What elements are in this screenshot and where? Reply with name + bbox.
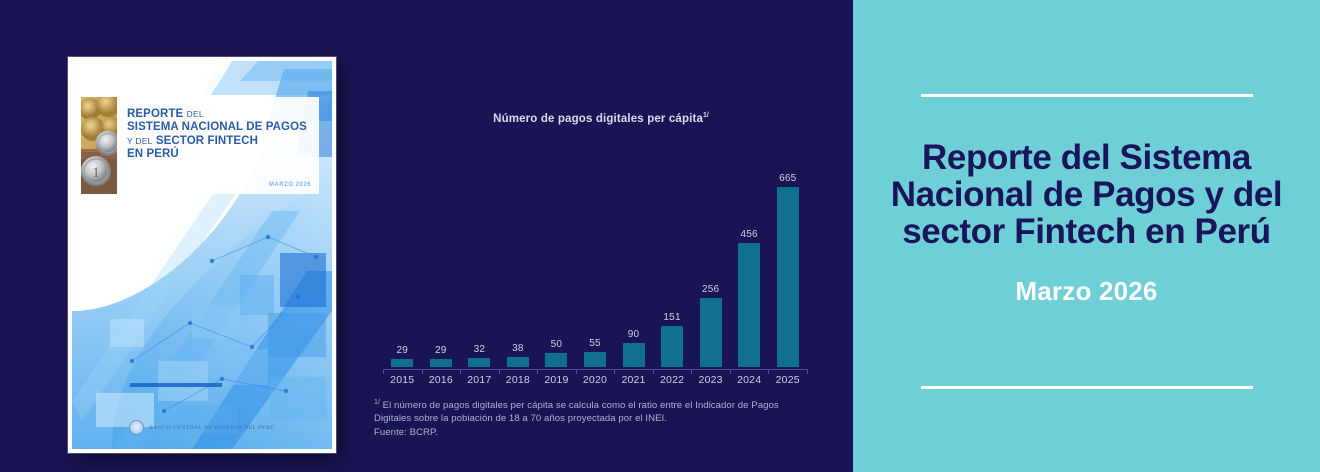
x-axis-labels: 2015201620172018201920202021202220232024… bbox=[383, 374, 807, 390]
bar-value-label: 90 bbox=[628, 329, 640, 340]
footnote-line: 1/ El número de pagos digitales per cápi… bbox=[374, 396, 814, 426]
chart-title: Número de pagos digitales per cápita1/ bbox=[366, 112, 826, 125]
bar[interactable] bbox=[545, 353, 567, 367]
cover-date: MARZO 2026 bbox=[269, 182, 311, 188]
bar-slot: 151 bbox=[653, 156, 692, 367]
x-axis-label: 2025 bbox=[768, 374, 807, 390]
bar-series: 29293238505590151256456665 bbox=[383, 156, 807, 367]
x-axis-label: 2022 bbox=[653, 374, 692, 390]
x-axis-label: 2016 bbox=[422, 374, 461, 390]
bar-chart-plot: 29293238505590151256456665 bbox=[383, 156, 807, 370]
bar-slot: 29 bbox=[422, 156, 461, 367]
bar-value-label: 29 bbox=[435, 345, 447, 356]
bar[interactable] bbox=[738, 243, 760, 367]
bar-slot: 256 bbox=[691, 156, 730, 367]
cover-title-line-3: Y DEL SECTOR FINTECH bbox=[127, 135, 313, 148]
bar-value-label: 151 bbox=[663, 312, 680, 323]
x-axis-label: 2024 bbox=[730, 374, 769, 390]
bar-value-label: 29 bbox=[396, 345, 408, 356]
bar[interactable] bbox=[700, 298, 722, 367]
x-axis-label: 2018 bbox=[499, 374, 538, 390]
cover-title-line-2: SISTEMA NACIONAL DE PAGOS bbox=[127, 121, 313, 134]
chart-footnote: 1/ El número de pagos digitales per cápi… bbox=[374, 396, 814, 439]
cover-title-block: 1 REPORTE DEL SISTEMA NACIONAL DE PAGOS … bbox=[81, 97, 319, 194]
footnote-text: El número de pagos digitales per cápita … bbox=[374, 400, 779, 424]
chart-title-footnote-marker: 1/ bbox=[703, 112, 709, 119]
panel-date: Marzo 2026 bbox=[1015, 276, 1157, 307]
page-title: Reporte del Sistema Nacional de Pagos y … bbox=[877, 139, 1297, 250]
bar-slot: 55 bbox=[576, 156, 615, 367]
cover-title-fintech: SECTOR FINTECH bbox=[156, 135, 258, 147]
bar-slot: 665 bbox=[768, 156, 807, 367]
bar-value-label: 456 bbox=[741, 229, 758, 240]
cover-title-reporte: REPORTE bbox=[127, 108, 183, 120]
chart-block: Número de pagos digitales per cápita1/ 2… bbox=[366, 112, 826, 432]
bar-value-label: 32 bbox=[474, 344, 486, 355]
report-cover[interactable]: 1 REPORTE DEL SISTEMA NACIONAL DE PAGOS … bbox=[68, 57, 336, 453]
bar[interactable] bbox=[584, 352, 606, 367]
rule-bottom bbox=[921, 386, 1253, 389]
bar-slot: 38 bbox=[499, 156, 538, 367]
svg-text:1: 1 bbox=[92, 165, 100, 181]
cover-canvas: 1 REPORTE DEL SISTEMA NACIONAL DE PAGOS … bbox=[72, 61, 332, 449]
cover-title-text: REPORTE DEL SISTEMA NACIONAL DE PAGOS Y … bbox=[127, 108, 313, 162]
cover-title-del: DEL bbox=[187, 109, 204, 119]
cover-title-ydel: Y DEL bbox=[127, 136, 153, 146]
bar-slot: 90 bbox=[614, 156, 653, 367]
bar-value-label: 665 bbox=[779, 173, 796, 184]
report-banner: 1 REPORTE DEL SISTEMA NACIONAL DE PAGOS … bbox=[0, 0, 1320, 472]
cover-title-line-4: EN PERÚ bbox=[127, 148, 313, 161]
title-panel: Reporte del Sistema Nacional de Pagos y … bbox=[853, 0, 1320, 472]
footnote-marker: 1/ bbox=[374, 399, 380, 406]
x-axis-label: 2017 bbox=[460, 374, 499, 390]
bar-slot: 29 bbox=[383, 156, 422, 367]
bar-value-label: 38 bbox=[512, 343, 524, 354]
bar-slot: 456 bbox=[730, 156, 769, 367]
bar[interactable] bbox=[430, 359, 452, 367]
x-axis-tick bbox=[807, 369, 808, 374]
bcrp-seal-icon bbox=[129, 420, 144, 435]
bcrp-logo: Banco Central de Reserva del Perú bbox=[72, 420, 332, 435]
bar[interactable] bbox=[777, 187, 799, 367]
bcrp-logo-text: Banco Central de Reserva del Perú bbox=[149, 425, 274, 431]
rule-top bbox=[921, 94, 1253, 97]
x-axis-label: 2019 bbox=[537, 374, 576, 390]
bar-value-label: 55 bbox=[589, 338, 601, 349]
bar-value-label: 256 bbox=[702, 284, 719, 295]
x-axis-label: 2021 bbox=[614, 374, 653, 390]
chart-title-text: Número de pagos digitales per cápita bbox=[493, 113, 703, 125]
x-axis-label: 2023 bbox=[691, 374, 730, 390]
coins-photo: 1 bbox=[81, 97, 117, 194]
bar[interactable] bbox=[507, 357, 529, 367]
x-axis-label: 2015 bbox=[383, 374, 422, 390]
bar[interactable] bbox=[661, 326, 683, 367]
bar-value-label: 50 bbox=[551, 339, 563, 350]
chart-source: Fuente: BCRP. bbox=[374, 426, 814, 439]
bar-slot: 32 bbox=[460, 156, 499, 367]
bar[interactable] bbox=[391, 359, 413, 367]
cover-title-line-1: REPORTE DEL bbox=[127, 108, 313, 121]
bar-slot: 50 bbox=[537, 156, 576, 367]
x-axis-label: 2020 bbox=[576, 374, 615, 390]
bar[interactable] bbox=[468, 358, 490, 367]
bar[interactable] bbox=[623, 343, 645, 367]
